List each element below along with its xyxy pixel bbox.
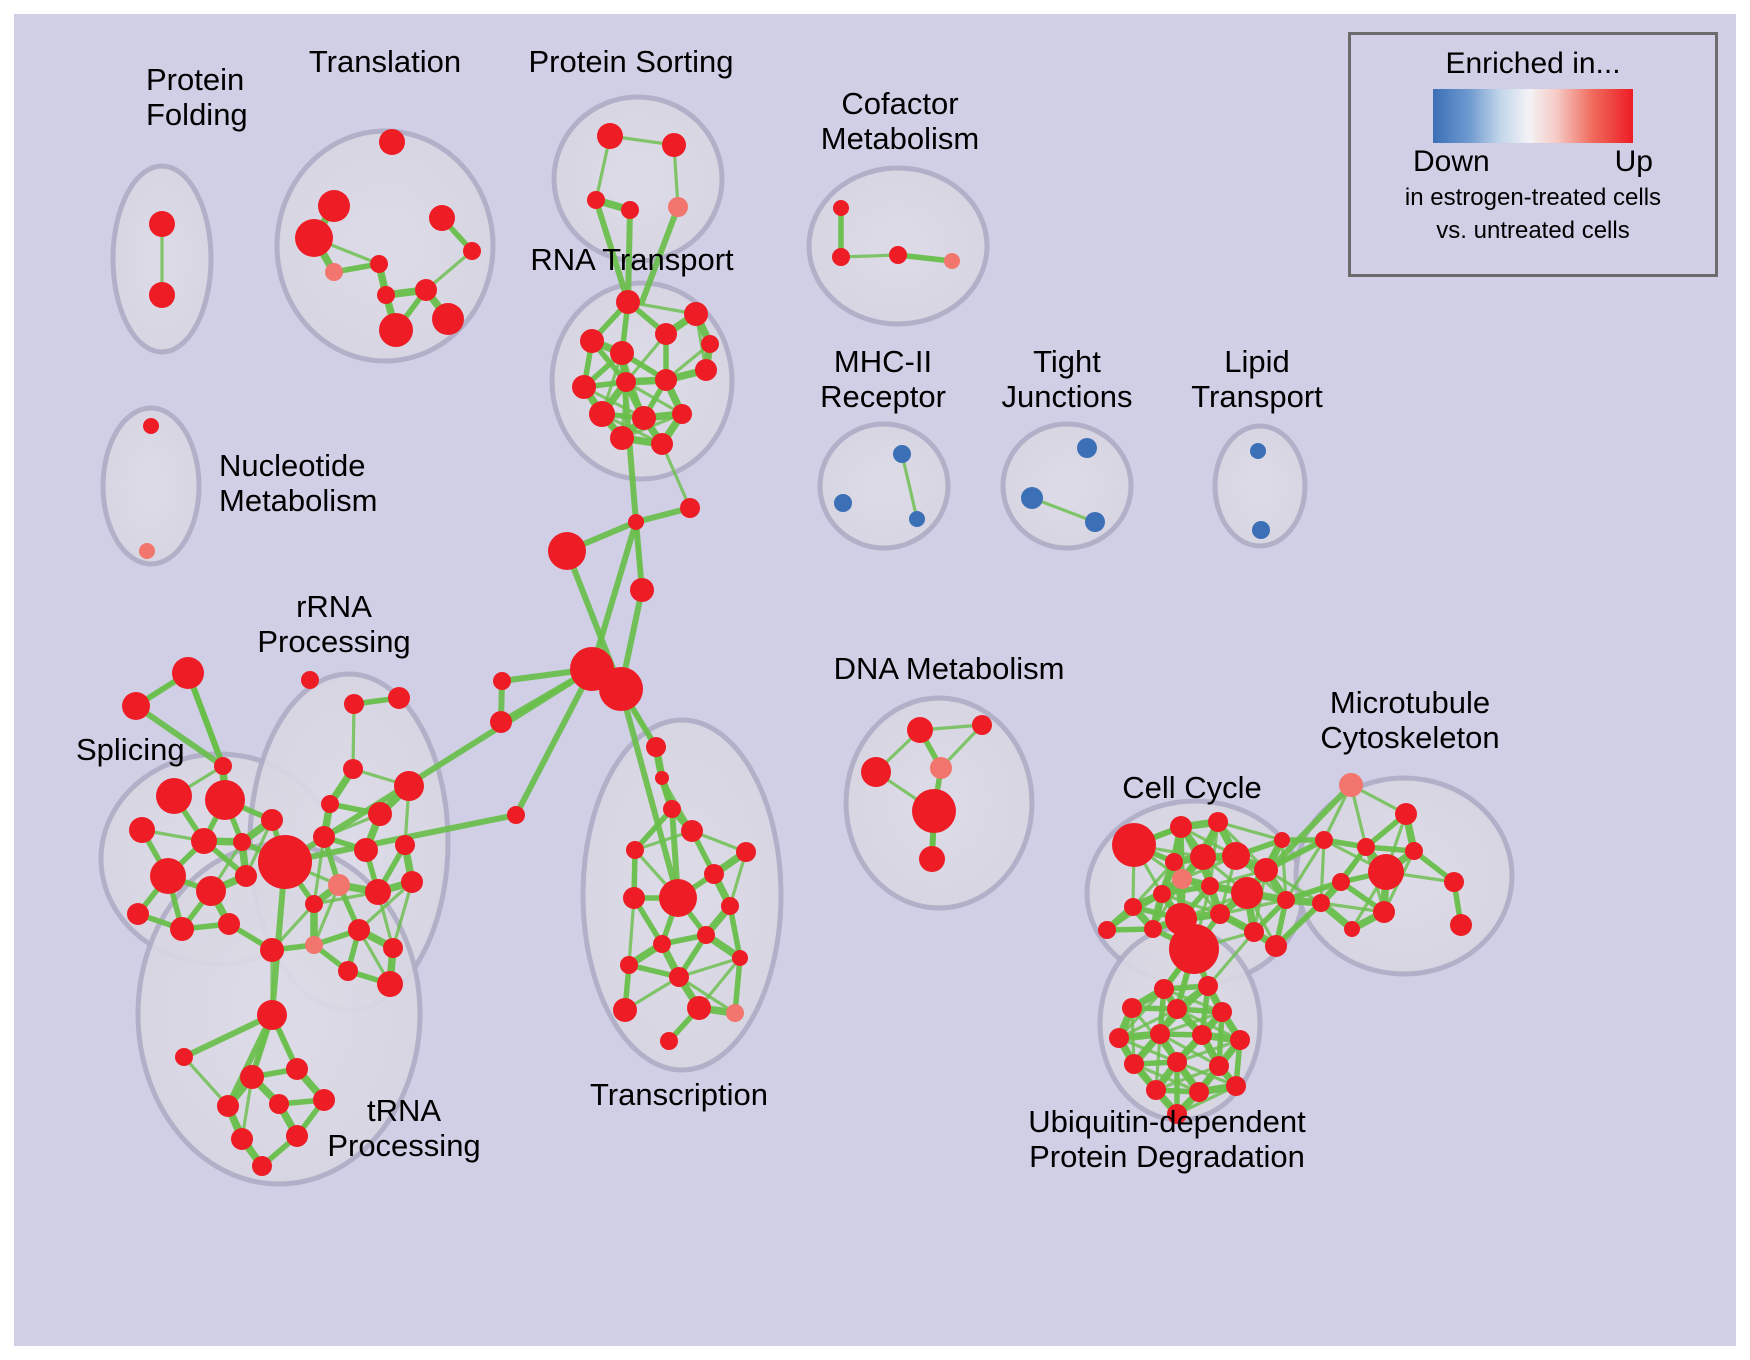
network-node[interactable]: [269, 1094, 289, 1114]
network-node[interactable]: [122, 692, 150, 720]
network-node[interactable]: [662, 133, 686, 157]
network-node[interactable]: [370, 255, 388, 273]
network-node[interactable]: [1357, 838, 1375, 856]
network-node[interactable]: [129, 817, 155, 843]
network-node[interactable]: [365, 879, 391, 905]
network-node[interactable]: [379, 313, 413, 347]
network-node[interactable]: [1201, 877, 1219, 895]
network-node[interactable]: [1277, 891, 1295, 909]
network-plot-area: Protein FoldingTranslationProtein Sortin…: [14, 14, 1736, 1346]
network-node[interactable]: [377, 286, 395, 304]
network-node[interactable]: [235, 865, 257, 887]
network-node[interactable]: [972, 715, 992, 735]
network-node[interactable]: [620, 956, 638, 974]
network-node[interactable]: [429, 205, 455, 231]
network-node[interactable]: [721, 897, 739, 915]
network-node[interactable]: [659, 879, 697, 917]
network-node[interactable]: [150, 858, 186, 894]
network-node[interactable]: [669, 967, 689, 987]
network-node[interactable]: [1222, 842, 1250, 870]
network-node[interactable]: [1209, 1056, 1229, 1076]
network-node[interactable]: [632, 406, 656, 430]
network-node[interactable]: [616, 372, 636, 392]
network-node[interactable]: [1231, 877, 1263, 909]
cluster-label-microtubule-cytoskeleton: Microtubule Cytoskeleton: [1320, 685, 1499, 755]
network-node[interactable]: [394, 771, 424, 801]
network-node[interactable]: [944, 253, 960, 269]
network-node[interactable]: [1405, 842, 1423, 860]
network-node[interactable]: [580, 329, 604, 353]
network-node[interactable]: [432, 303, 464, 335]
network-node[interactable]: [490, 711, 512, 733]
network-node[interactable]: [149, 211, 175, 237]
network-node[interactable]: [726, 1004, 744, 1022]
network-node[interactable]: [257, 1000, 287, 1030]
network-node[interactable]: [701, 335, 719, 353]
network-node[interactable]: [463, 242, 481, 260]
network-node[interactable]: [616, 290, 640, 314]
network-node[interactable]: [1169, 924, 1219, 974]
network-node[interactable]: [1192, 1025, 1212, 1045]
network-node[interactable]: [680, 498, 700, 518]
network-node[interactable]: [1172, 869, 1192, 889]
network-node[interactable]: [343, 759, 363, 779]
network-node[interactable]: [172, 657, 204, 689]
network-node[interactable]: [1226, 1076, 1246, 1096]
network-node[interactable]: [1450, 914, 1472, 936]
network-node[interactable]: [704, 864, 724, 884]
network-node[interactable]: [684, 302, 708, 326]
network-node[interactable]: [261, 809, 283, 831]
network-node[interactable]: [1212, 1002, 1232, 1022]
network-node[interactable]: [1373, 901, 1395, 923]
network-node[interactable]: [1109, 1028, 1129, 1048]
network-node[interactable]: [613, 998, 637, 1022]
legend-subtitle-line1: in estrogen-treated cells: [1405, 183, 1661, 212]
network-node[interactable]: [383, 938, 403, 958]
network-node[interactable]: [548, 532, 586, 570]
network-node[interactable]: [655, 323, 677, 345]
network-node[interactable]: [1244, 922, 1264, 942]
legend-low-label: Down: [1413, 145, 1490, 179]
network-node[interactable]: [143, 418, 159, 434]
network-node[interactable]: [1170, 816, 1192, 838]
cluster-label-dna-metabolism: DNA Metabolism: [834, 651, 1065, 686]
network-node[interactable]: [493, 672, 511, 690]
legend-color-bar: [1433, 89, 1633, 143]
cluster-label-protein-sorting: Protein Sorting: [528, 44, 733, 79]
network-node[interactable]: [1274, 832, 1290, 848]
cluster-hull-mhc-ii-receptor: [820, 424, 948, 548]
network-node[interactable]: [651, 433, 673, 455]
network-node[interactable]: [127, 903, 149, 925]
network-node[interactable]: [1332, 873, 1350, 891]
network-node[interactable]: [1124, 1054, 1144, 1074]
cluster-label-nucleotide-metabolism: Nucleotide Metabolism: [219, 448, 378, 518]
network-node[interactable]: [196, 876, 226, 906]
network-node[interactable]: [1230, 1030, 1250, 1050]
network-node[interactable]: [736, 842, 756, 862]
network-node[interactable]: [305, 936, 323, 954]
network-node[interactable]: [889, 246, 907, 264]
network-node[interactable]: [1122, 998, 1142, 1018]
network-node[interactable]: [214, 757, 232, 775]
network-node[interactable]: [252, 1156, 272, 1176]
network-node[interactable]: [912, 789, 956, 833]
network-node[interactable]: [909, 511, 925, 527]
network-node[interactable]: [156, 778, 192, 814]
cluster-hull-tight-junctions: [1003, 424, 1131, 548]
network-node[interactable]: [1250, 443, 1266, 459]
network-node[interactable]: [1098, 921, 1116, 939]
network-node[interactable]: [338, 961, 358, 981]
network-node[interactable]: [630, 578, 654, 602]
network-node[interactable]: [1254, 858, 1278, 882]
network-node[interactable]: [149, 282, 175, 308]
cluster-label-cell-cycle: Cell Cycle: [1122, 770, 1262, 805]
network-node[interactable]: [668, 197, 688, 217]
network-node[interactable]: [286, 1125, 308, 1147]
network-node[interactable]: [672, 404, 692, 424]
network-node[interactable]: [1190, 844, 1216, 870]
network-node[interactable]: [646, 737, 666, 757]
network-node[interactable]: [930, 757, 952, 779]
network-node[interactable]: [1153, 885, 1171, 903]
network-node[interactable]: [919, 846, 945, 872]
figure-canvas: Protein FoldingTranslationProtein Sortin…: [0, 0, 1750, 1360]
legend-high-label: Up: [1615, 145, 1653, 179]
network-node[interactable]: [1315, 831, 1333, 849]
network-node[interactable]: [589, 401, 615, 427]
network-node[interactable]: [861, 757, 891, 787]
network-node[interactable]: [663, 800, 681, 818]
network-node[interactable]: [833, 200, 849, 216]
network-node[interactable]: [834, 494, 852, 512]
network-node[interactable]: [1312, 894, 1330, 912]
network-node[interactable]: [170, 917, 194, 941]
cluster-label-translation: Translation: [309, 44, 461, 79]
cluster-label-rrna-processing: rRNA Processing: [257, 589, 410, 659]
network-node[interactable]: [628, 514, 644, 530]
network-node[interactable]: [1339, 773, 1363, 797]
legend-subtitle-line2: vs. untreated cells: [1436, 216, 1629, 245]
network-node[interactable]: [377, 971, 403, 997]
network-node[interactable]: [313, 826, 335, 848]
network-node[interactable]: [286, 1058, 308, 1080]
network-node[interactable]: [325, 263, 343, 281]
network-node[interactable]: [621, 201, 639, 219]
network-node[interactable]: [191, 828, 217, 854]
network-node[interactable]: [1210, 904, 1230, 924]
network-node[interactable]: [893, 445, 911, 463]
network-node[interactable]: [395, 835, 415, 855]
network-node[interactable]: [205, 780, 245, 820]
cluster-label-ubiquitin-protein-degradation: Ubiquitin-dependent Protein Degradation: [1028, 1104, 1306, 1174]
network-node[interactable]: [175, 1048, 193, 1066]
cluster-label-protein-folding: Protein Folding: [146, 62, 248, 132]
network-node[interactable]: [305, 895, 323, 913]
network-node[interactable]: [610, 426, 634, 450]
network-node[interactable]: [1344, 921, 1360, 937]
network-node[interactable]: [610, 341, 634, 365]
network-node[interactable]: [233, 833, 251, 851]
network-node[interactable]: [681, 820, 703, 842]
network-node[interactable]: [321, 795, 339, 813]
network-node[interactable]: [687, 996, 711, 1020]
network-node[interactable]: [344, 694, 364, 714]
network-node[interactable]: [1085, 512, 1105, 532]
network-node[interactable]: [231, 1128, 253, 1150]
network-node[interactable]: [379, 129, 405, 155]
network-node[interactable]: [732, 950, 748, 966]
legend-panel: Enriched in... Down Up in estrogen-treat…: [1348, 32, 1718, 277]
cluster-label-rna-transport: RNA Transport: [530, 242, 733, 277]
network-node[interactable]: [697, 926, 715, 944]
network-node[interactable]: [1208, 812, 1228, 832]
network-node[interactable]: [655, 771, 669, 785]
cluster-hull-protein-sorting: [554, 97, 722, 261]
cluster-label-mhc-ii-receptor: MHC-II Receptor: [820, 344, 946, 414]
network-node[interactable]: [1395, 803, 1417, 825]
network-node[interactable]: [507, 806, 525, 824]
cluster-label-lipid-transport: Lipid Transport: [1191, 344, 1323, 414]
network-node[interactable]: [907, 717, 933, 743]
network-node[interactable]: [415, 279, 437, 301]
cluster-label-transcription: Transcription: [590, 1077, 768, 1112]
network-node[interactable]: [1077, 438, 1097, 458]
network-node[interactable]: [695, 359, 717, 381]
network-node[interactable]: [587, 191, 605, 209]
network-node[interactable]: [597, 123, 623, 149]
network-node[interactable]: [301, 671, 319, 689]
network-node[interactable]: [1167, 999, 1187, 1019]
network-node[interactable]: [1265, 935, 1287, 957]
network-node[interactable]: [1165, 853, 1183, 871]
network-node[interactable]: [368, 802, 392, 826]
cluster-label-cofactor-metabolism: Cofactor Metabolism: [821, 86, 980, 156]
network-node[interactable]: [218, 913, 240, 935]
network-node[interactable]: [1154, 979, 1174, 999]
network-node[interactable]: [1167, 1052, 1187, 1072]
network-node[interactable]: [260, 938, 284, 962]
network-node[interactable]: [295, 219, 333, 257]
network-node[interactable]: [328, 874, 350, 896]
network-node[interactable]: [623, 887, 645, 909]
network-node[interactable]: [1252, 521, 1270, 539]
legend-title: Enriched in...: [1445, 47, 1620, 81]
network-node[interactable]: [626, 841, 644, 859]
network-node[interactable]: [1124, 898, 1142, 916]
network-node[interactable]: [660, 1032, 678, 1050]
network-node[interactable]: [354, 838, 378, 862]
network-node[interactable]: [653, 935, 671, 953]
network-node[interactable]: [1368, 854, 1404, 890]
cluster-label-tight-junctions: Tight Junctions: [1002, 344, 1133, 414]
network-node[interactable]: [139, 543, 155, 559]
network-node[interactable]: [572, 375, 596, 399]
network-node[interactable]: [1144, 920, 1162, 938]
network-node[interactable]: [348, 919, 370, 941]
network-node[interactable]: [655, 369, 677, 391]
network-node[interactable]: [1112, 823, 1156, 867]
network-node[interactable]: [1146, 1080, 1166, 1100]
network-node[interactable]: [388, 687, 410, 709]
network-node[interactable]: [401, 871, 423, 893]
network-node[interactable]: [599, 667, 643, 711]
cluster-label-trna-processing: tRNA Processing: [327, 1093, 480, 1163]
network-node[interactable]: [832, 248, 850, 266]
network-node[interactable]: [258, 835, 312, 889]
network-node[interactable]: [217, 1095, 239, 1117]
network-node[interactable]: [1189, 1082, 1209, 1102]
network-node[interactable]: [240, 1065, 264, 1089]
network-node[interactable]: [1021, 487, 1043, 509]
network-node[interactable]: [1150, 1024, 1170, 1044]
network-node[interactable]: [1198, 976, 1218, 996]
cluster-label-splicing: Splicing: [76, 732, 185, 767]
network-node[interactable]: [318, 190, 350, 222]
network-node[interactable]: [1444, 872, 1464, 892]
